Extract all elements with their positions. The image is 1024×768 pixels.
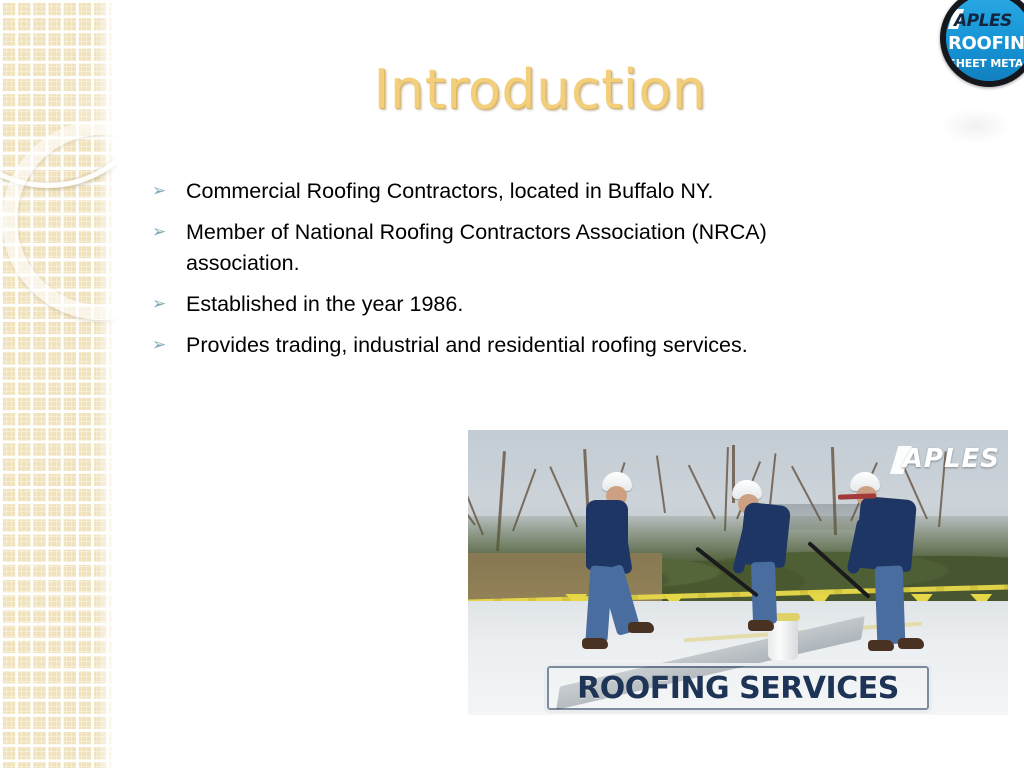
bullet-text: Established in the year 1986. (186, 289, 772, 320)
decorative-left-border (0, 0, 118, 768)
list-item: ➢ Provides trading, industrial and resid… (152, 330, 772, 361)
logo-roofing-text: ROOFING (948, 33, 1024, 54)
bullet-list: ➢ Commercial Roofing Contractors, locate… (152, 176, 772, 371)
worker-boot (582, 638, 608, 649)
worker-boot (868, 640, 894, 651)
list-item: ➢ Commercial Roofing Contractors, locate… (152, 176, 772, 207)
list-item: ➢ Member of National Roofing Contractors… (152, 217, 772, 279)
arrow-bullet-icon: ➢ (152, 330, 186, 361)
border-fade-overlay (96, 0, 118, 768)
worker-legs (875, 566, 906, 645)
roofing-crew-photo: APLES ROOFING SERVICES (468, 430, 1008, 715)
photo-watermark-text: APLES (903, 444, 1000, 474)
page-title: Introduction (160, 58, 920, 121)
bullet-text: Provides trading, industrial and residen… (186, 330, 772, 361)
roofing-services-banner: ROOFING SERVICES (544, 663, 933, 713)
banner-text: ROOFING SERVICES (577, 671, 899, 706)
slide-canvas: Introduction APLES ROOFING SHEET METAL ➢… (0, 0, 1024, 768)
logo-sheet-metal-text: SHEET METAL (948, 57, 1024, 70)
list-item: ➢ Established in the year 1986. (152, 289, 772, 320)
worker-boot (898, 638, 924, 649)
logo-shadow-smudge (940, 108, 1010, 144)
logo-brand-text: APLES (954, 11, 1012, 31)
worker-boot (628, 622, 654, 633)
worker-boot (748, 620, 774, 631)
arrow-bullet-icon: ➢ (152, 176, 186, 207)
arrow-bullet-icon: ➢ (152, 217, 186, 248)
arrow-bullet-icon: ➢ (152, 289, 186, 320)
bullet-text: Member of National Roofing Contractors A… (186, 217, 772, 279)
bullet-text: Commercial Roofing Contractors, located … (186, 176, 772, 207)
maples-roofing-logo: APLES ROOFING SHEET METAL (940, 0, 1024, 87)
